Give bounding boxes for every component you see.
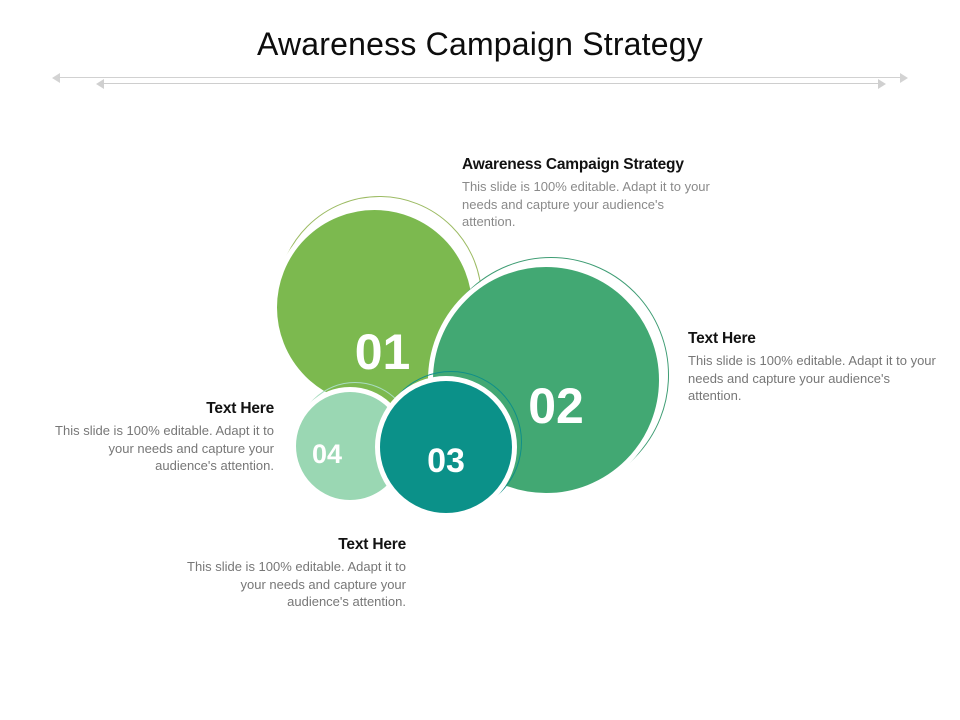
callout-left: Text Here This slide is 100% editable. A… (44, 400, 274, 475)
bubble-03-number: 03 (427, 444, 465, 478)
callout-left-heading: Text Here (44, 400, 274, 418)
callout-bottom-body: This slide is 100% editable. Adapt it to… (178, 558, 406, 611)
callout-left-body: This slide is 100% editable. Adapt it to… (44, 422, 274, 475)
callout-bottom-heading: Text Here (178, 536, 406, 554)
slide-canvas: Awareness Campaign Strategy 01 04 02 03 … (0, 0, 960, 720)
callout-bottom: Text Here This slide is 100% editable. A… (178, 536, 406, 611)
callout-right: Text Here This slide is 100% editable. A… (688, 330, 936, 405)
bubble-01-number: 01 (355, 327, 411, 377)
callout-top: Awareness Campaign Strategy This slide i… (462, 156, 712, 231)
callout-right-body: This slide is 100% editable. Adapt it to… (688, 352, 936, 405)
bubble-04-number: 04 (312, 441, 342, 468)
bubble-02-number: 02 (528, 381, 584, 431)
callout-top-body: This slide is 100% editable. Adapt it to… (462, 178, 712, 231)
callout-top-heading: Awareness Campaign Strategy (462, 156, 712, 174)
bubble-03[interactable]: 03 (375, 376, 517, 518)
callout-right-heading: Text Here (688, 330, 936, 348)
